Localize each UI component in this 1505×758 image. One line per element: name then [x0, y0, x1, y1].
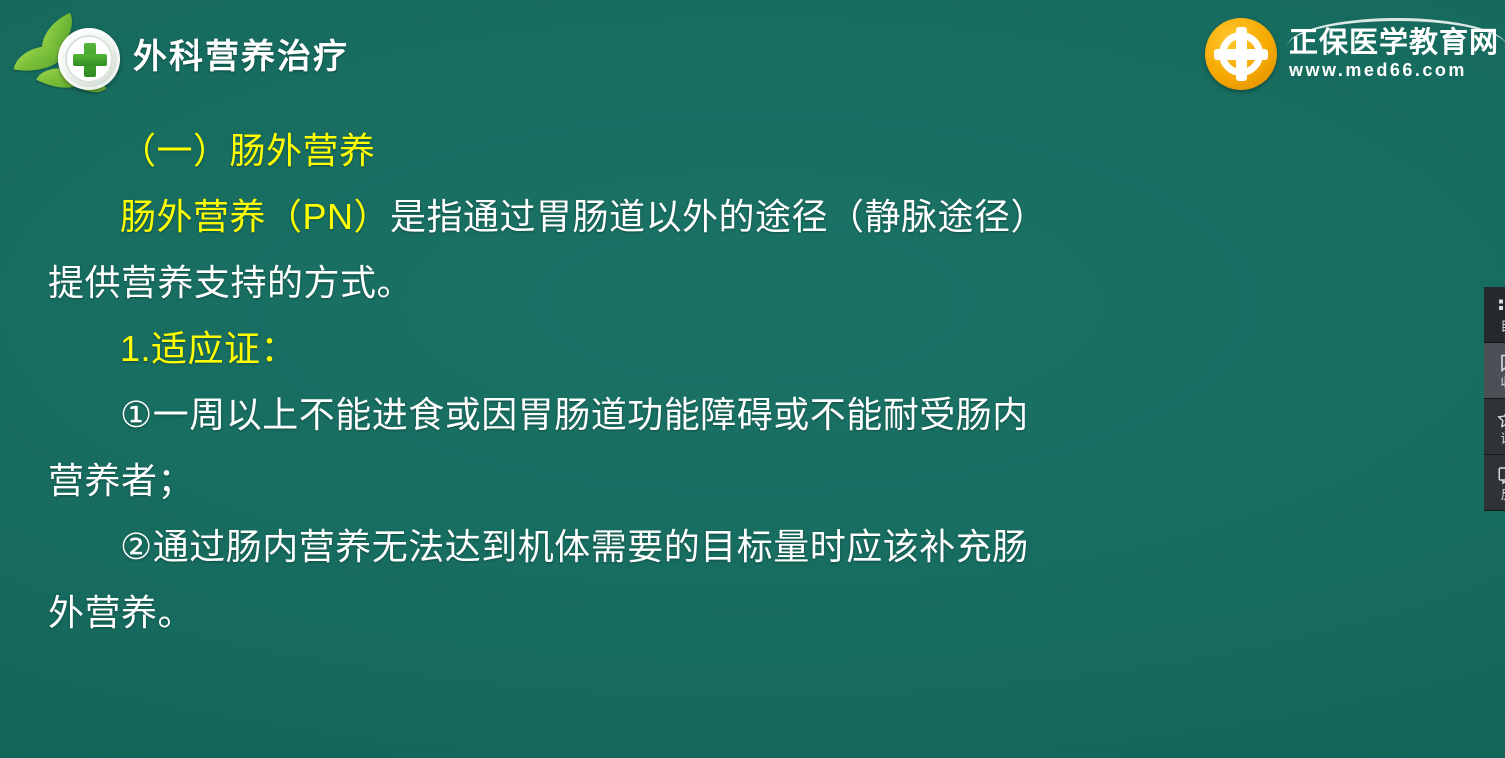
site-url: www.med66.com: [1289, 61, 1499, 79]
star-icon: [1497, 409, 1505, 429]
tool-item-feedback[interactable]: 反: [1484, 455, 1505, 511]
presentation-slide: 外科营养治疗 正保医学教育网 www.med66.com （一）肠外营养 肠外营…: [0, 0, 1505, 758]
tool-item-favorite[interactable]: 收: [1484, 343, 1505, 399]
tool-item-feedback-label: 反: [1500, 488, 1505, 501]
definition-line-2: 提供营养支持的方式。: [48, 250, 1168, 316]
tool-item-favorite-label: 收: [1500, 376, 1505, 389]
site-logo: 正保医学教育网 www.med66.com: [1205, 14, 1499, 94]
indication-item-1-line-2: 营养者；: [48, 448, 1168, 514]
slide-body: （一）肠外营养 肠外营养（PN）是指通过胃肠道以外的途径（静脉途径） 提供营养支…: [48, 118, 1168, 646]
page-title: 外科营养治疗: [133, 40, 349, 74]
indication-heading: 1.适应证：: [120, 328, 297, 369]
tool-item-rating[interactable]: 评: [1484, 399, 1505, 455]
definition-rest: 是指通过胃肠道以外的途径（静脉途径）: [390, 196, 1047, 237]
leaf-medical-cross-icon: [14, 12, 132, 98]
section-heading: （一）肠外营养: [120, 130, 376, 171]
indication-heading-line: 1.适应证：: [48, 316, 1168, 382]
definition-term: 肠外营养（PN）: [120, 196, 390, 237]
tool-item-contents[interactable]: 目: [1484, 287, 1505, 343]
side-tool-panel[interactable]: 目 收 评 反: [1484, 287, 1505, 511]
slide-header: 外科营养治疗 正保医学教育网 www.med66.com: [0, 0, 1505, 108]
indication-item-1-line-1: ①一周以上不能进食或因胃肠道功能障碍或不能耐受肠内: [48, 382, 1168, 448]
logo-arc-decoration: [1287, 18, 1505, 47]
definition-line-1: 肠外营养（PN）是指通过胃肠道以外的途径（静脉途径）: [48, 184, 1168, 250]
list-grid-icon: [1497, 297, 1505, 317]
medical-cross-badge-icon: [58, 28, 120, 90]
logo-ring: [1219, 32, 1263, 76]
orange-circle-cross-icon: [1205, 18, 1277, 90]
bookmark-icon: [1497, 353, 1505, 373]
feedback-icon: [1497, 465, 1505, 485]
tool-item-contents-label: 目: [1500, 320, 1505, 333]
indication-item-2-line-2: 外营养。: [48, 580, 1168, 646]
tool-item-rating-label: 评: [1500, 432, 1505, 445]
section-heading-line: （一）肠外营养: [48, 118, 1168, 184]
indication-item-2-line-1: ②通过肠内营养无法达到机体需要的目标量时应该补充肠: [48, 514, 1168, 580]
cross-horizontal-bar: [73, 54, 107, 66]
